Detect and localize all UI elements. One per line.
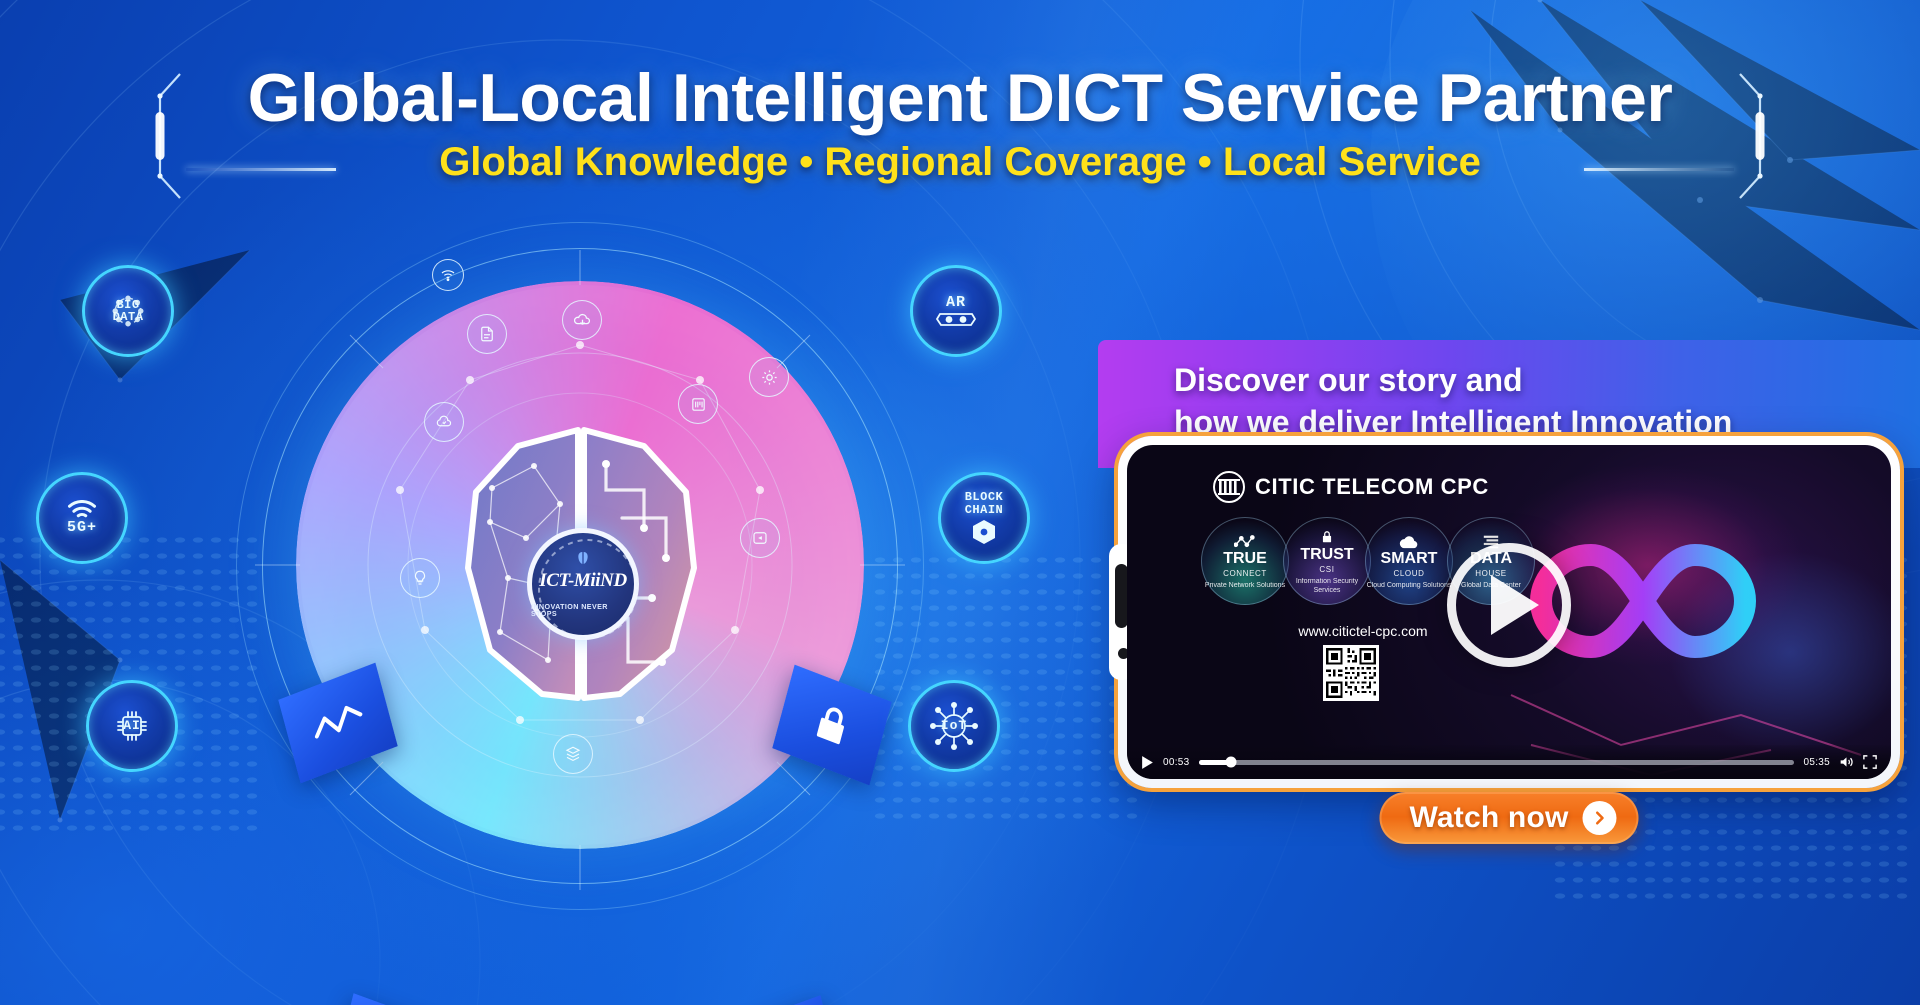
- duration: 05:35: [1803, 757, 1830, 768]
- hero-graphic: ICT-MiiND INNOVATION NEVER STOPS BIGDATA…: [0, 250, 1080, 990]
- progress-knob[interactable]: [1226, 757, 1237, 768]
- banner-root: Global-Local Intelligent DICT Service Pa…: [0, 0, 1920, 1005]
- tech-badge-big-data[interactable]: BIGDATA: [82, 265, 174, 357]
- subtitle-rule-right: [1584, 168, 1734, 171]
- pillar-main-2: TRUST: [1300, 547, 1353, 563]
- video-headline-line-1: Discover our story and: [1174, 360, 1920, 402]
- pillar-main-1: TRUE: [1223, 551, 1267, 567]
- video-brand-name: CITIC TELECOM CPC: [1255, 474, 1489, 500]
- document-icon: [467, 314, 507, 354]
- hero-panel-cloud: [333, 993, 452, 1005]
- pillar-trust-csi: TRUST CSI Information Security Services: [1283, 517, 1371, 605]
- big-data-network-icon: [111, 294, 145, 328]
- tech-badge-ai[interactable]: AI: [86, 680, 178, 772]
- padlock-icon: [1320, 527, 1334, 545]
- page-title: Global-Local Intelligent DICT Service Pa…: [0, 62, 1920, 134]
- play-circle-icon[interactable]: [1447, 543, 1571, 667]
- video-brand-lockup: CITIC TELECOM CPC: [1213, 471, 1489, 503]
- tech-badge-iot[interactable]: IoT: [908, 680, 1000, 772]
- hero-panel-servers: [723, 995, 842, 1005]
- chevron-right-circle-icon: [1583, 801, 1617, 835]
- ar-glasses-icon: [936, 311, 976, 327]
- tech-badge-label-ar: AR: [946, 295, 966, 310]
- watch-now-button[interactable]: Watch now: [1379, 792, 1638, 844]
- play-icon: [1491, 575, 1539, 635]
- tech-badge-label-ai: AI: [123, 719, 141, 732]
- pillar-main-3: SMART: [1381, 551, 1438, 567]
- video-promo-card: Discover our story and how we deliver In…: [1098, 340, 1920, 860]
- tech-badge-label-5g: 5G+: [67, 520, 97, 535]
- pillar-desc-2: Information Security Services: [1283, 578, 1371, 596]
- qr-code-icon: [1323, 645, 1379, 701]
- citic-pillars-icon: [1218, 479, 1240, 495]
- wifi-icon: [432, 259, 464, 291]
- line-chart-icon: [307, 696, 370, 750]
- wifi-signal-icon: [67, 500, 97, 520]
- fullscreen-icon[interactable]: [1863, 755, 1877, 769]
- watch-now-label: Watch now: [1409, 801, 1568, 835]
- tech-badge-label-iot: IoT: [941, 719, 967, 732]
- qr-code-matrix: [1326, 648, 1376, 698]
- pillar-sub-1: CONNECT: [1223, 569, 1267, 578]
- tech-badge-5g[interactable]: 5G+: [36, 472, 128, 564]
- pillar-true-connect: TRUE CONNECT Private Network Solutions: [1201, 517, 1289, 605]
- ict-miind-badge: ICT-MiiND INNOVATION NEVER STOPS: [527, 528, 639, 640]
- tech-badge-label-blockchain: BLOCKCHAIN: [965, 491, 1004, 515]
- gear-sun-icon: [749, 357, 789, 397]
- blockchain-cube-icon: [971, 519, 997, 545]
- media-play-icon: [740, 518, 780, 558]
- network-nodes-icon: [1234, 531, 1256, 549]
- banner-header: Global-Local Intelligent DICT Service Pa…: [0, 62, 1920, 196]
- subtitle-rule-left: [186, 168, 336, 171]
- pillar-desc-1: Private Network Solutions: [1205, 582, 1285, 591]
- gear-ring-icon: [532, 533, 644, 645]
- pillar-sub-2: CSI: [1319, 565, 1334, 574]
- current-time: 00:53: [1163, 757, 1190, 768]
- pillar-sub-3: CLOUD: [1393, 569, 1424, 578]
- citic-logo-icon: [1213, 471, 1245, 503]
- page-subtitle: Global Knowledge • Regional Coverage • L…: [413, 140, 1507, 185]
- lightbulb-icon: [400, 558, 440, 598]
- video-controls[interactable]: 00:53 05:35: [1127, 745, 1891, 779]
- tech-badge-ar[interactable]: AR: [910, 265, 1002, 357]
- padlock-icon: [806, 695, 857, 755]
- badge-tagline: INNOVATION NEVER STOPS: [531, 604, 635, 618]
- tech-badge-blockchain[interactable]: BLOCKCHAIN: [938, 472, 1030, 564]
- cloud-icon: [1398, 531, 1420, 549]
- phone-mockup: CITIC TELECOM CPC TRUE CONNECT Private N…: [1118, 436, 1900, 788]
- layers-icon: [553, 734, 593, 774]
- progress-scrubber[interactable]: [1199, 760, 1795, 765]
- pillar-desc-3: Cloud Computing Solutions: [1367, 582, 1452, 591]
- cloud-download-icon: [562, 300, 602, 340]
- pillar-smart-cloud: SMART CLOUD Cloud Computing Solutions: [1365, 517, 1453, 605]
- subtitle-row: Global Knowledge • Regional Coverage • L…: [0, 140, 1920, 196]
- chevron-right-icon: [1591, 809, 1609, 827]
- play-icon[interactable]: [1141, 755, 1154, 770]
- video-player[interactable]: CITIC TELECOM CPC TRUE CONNECT Private N…: [1127, 445, 1891, 779]
- volume-icon[interactable]: [1839, 755, 1854, 769]
